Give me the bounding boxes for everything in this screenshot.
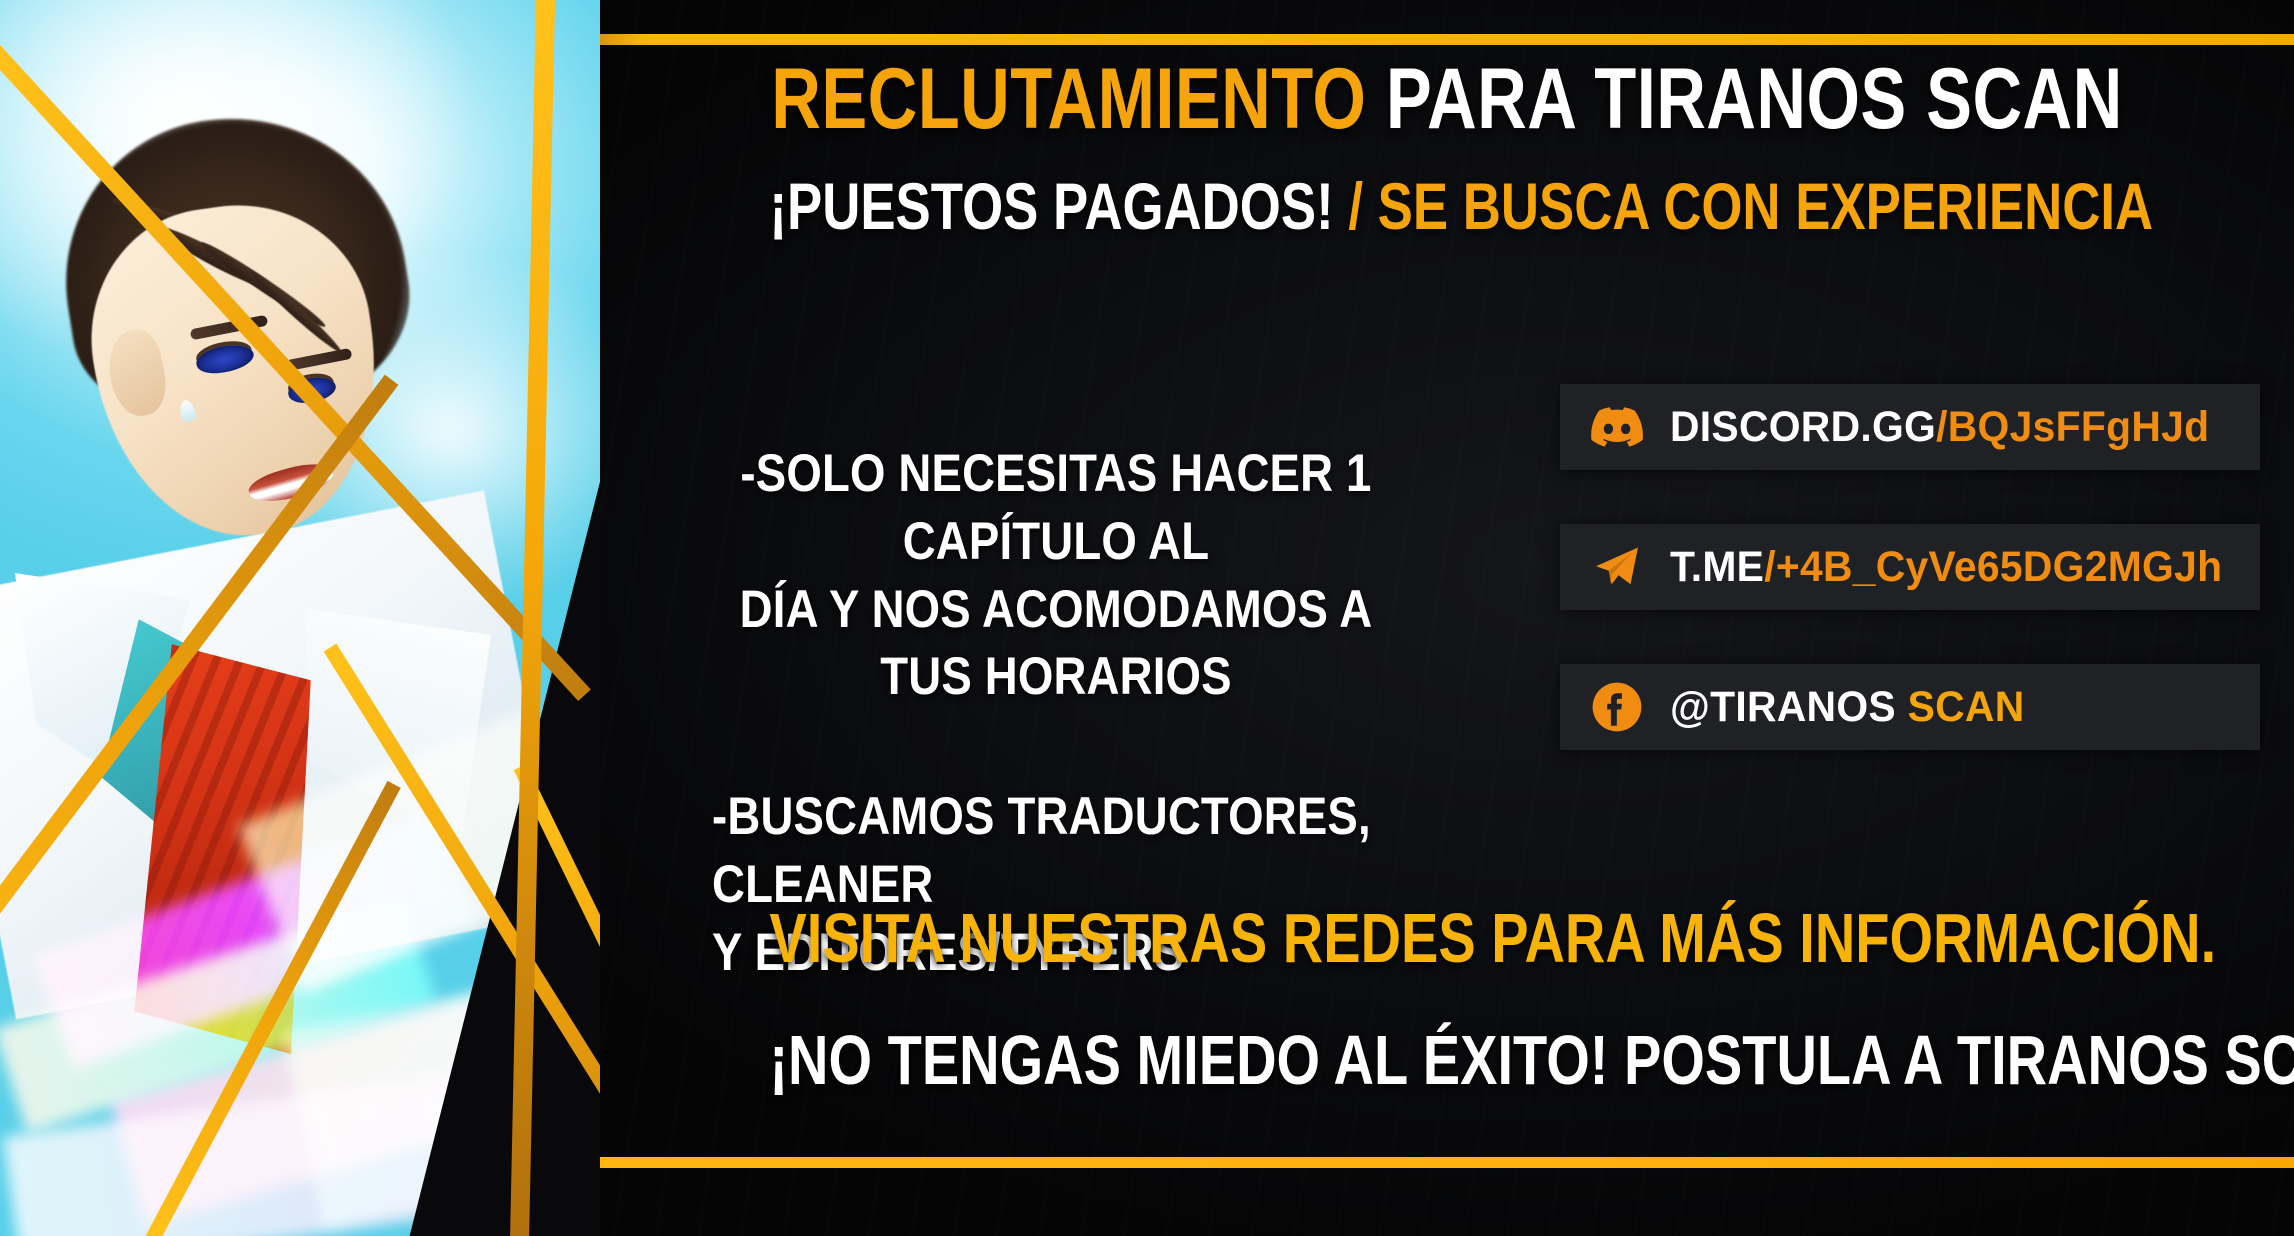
headline: RECLUTAMIENTO PARA TIRANOS SCAN bbox=[769, 56, 2124, 144]
content-panel: RECLUTAMIENTO PARA TIRANOS SCAN ¡PUESTOS… bbox=[600, 0, 2294, 1236]
discord-link-text: DISCORD.GG/BQJsFFgHJd bbox=[1670, 403, 2209, 452]
cta-line-secondary: ¡NO TENGAS MIEDO AL ÉXITO! POSTULA A TIR… bbox=[769, 1020, 2124, 1100]
bullet-line: -SOLO NECESITAS HACER 1 CAPÍTULO AL bbox=[695, 440, 1417, 576]
bullet-line: DÍA Y NOS ACOMODAMOS A TUS HORARIOS bbox=[695, 576, 1417, 712]
telegram-separator: / bbox=[1764, 543, 1776, 591]
contact-chip-discord[interactable]: DISCORD.GG/BQJsFFgHJd bbox=[1560, 384, 2260, 470]
headline-rest: PARA TIRANOS SCAN bbox=[1386, 51, 2123, 147]
telegram-invite-code: +4B_CyVe65DG2MGJh bbox=[1776, 543, 2222, 591]
facebook-handle: @TIRANOS bbox=[1670, 683, 1896, 731]
contact-chip-facebook[interactable]: @TIRANOS SCAN bbox=[1560, 664, 2260, 750]
facebook-handle-text: @TIRANOS SCAN bbox=[1670, 683, 2024, 732]
contact-chip-telegram[interactable]: T.ME/+4B_CyVe65DG2MGJh bbox=[1560, 524, 2260, 610]
telegram-icon bbox=[1590, 540, 1644, 594]
discord-separator: / bbox=[1936, 403, 1948, 451]
character-artwork bbox=[0, 0, 600, 1236]
subheadline-gold: / SE BUSCA CON EXPERIENCIA bbox=[1348, 169, 2153, 243]
contact-chip-list: DISCORD.GG/BQJsFFgHJd T.ME/+4B_CyVe65DG2… bbox=[1560, 384, 2260, 750]
cta-line-primary: VISITA NUESTRAS REDES PARA MÁS INFORMACI… bbox=[769, 898, 2124, 978]
discord-domain: DISCORD.GG bbox=[1670, 403, 1936, 451]
subheadline-white: ¡PUESTOS PAGADOS! bbox=[769, 169, 1333, 243]
facebook-handle-accent: SCAN bbox=[1908, 683, 2025, 731]
recruitment-banner: RECLUTAMIENTO PARA TIRANOS SCAN ¡PUESTOS… bbox=[0, 0, 2294, 1236]
bullet-item-schedule: -SOLO NECESITAS HACER 1 CAPÍTULO AL DÍA … bbox=[695, 440, 1417, 711]
subheadline: ¡PUESTOS PAGADOS! / SE BUSCA CON EXPERIE… bbox=[769, 172, 2124, 241]
discord-invite-code: BQJsFFgHJd bbox=[1948, 403, 2210, 451]
telegram-domain: T.ME bbox=[1670, 543, 1764, 591]
discord-icon bbox=[1590, 400, 1644, 454]
headline-highlight: RECLUTAMIENTO bbox=[771, 51, 1366, 147]
telegram-link-text: T.ME/+4B_CyVe65DG2MGJh bbox=[1670, 543, 2222, 592]
call-to-action: VISITA NUESTRAS REDES PARA MÁS INFORMACI… bbox=[600, 898, 2294, 1100]
facebook-icon bbox=[1590, 680, 1644, 734]
